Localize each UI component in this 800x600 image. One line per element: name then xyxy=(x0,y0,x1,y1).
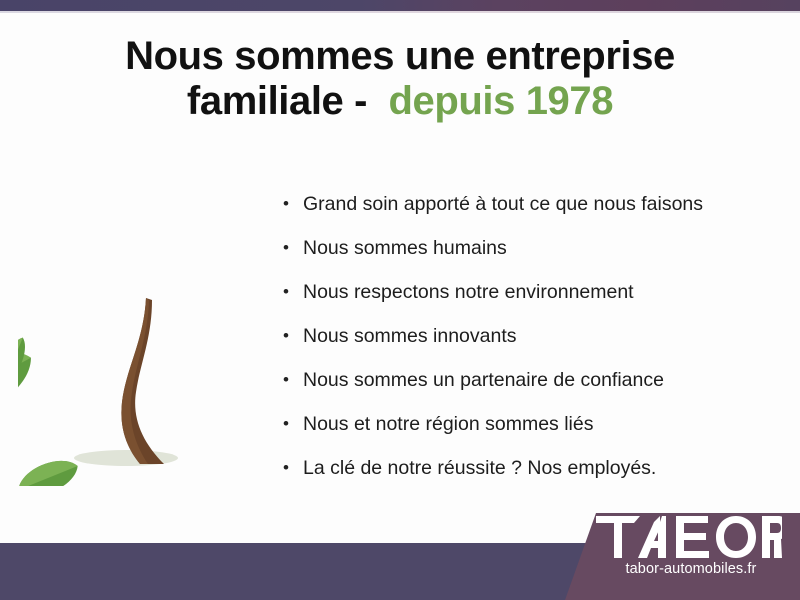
title-line-2-accent: depuis 1978 xyxy=(388,79,613,123)
title-line-1: Nous sommes une entreprise xyxy=(0,34,800,79)
list-item-label: Nous respectons notre environnement xyxy=(303,278,634,306)
list-item-label: Grand soin apporté à tout ce que nous fa… xyxy=(303,190,703,218)
list-item: • Nous et notre région sommes liés xyxy=(283,410,783,454)
top-accent-bar xyxy=(0,0,800,11)
title-line-2-plain: familiale - xyxy=(187,79,389,123)
page-title: Nous sommes une entreprise familiale - d… xyxy=(0,34,800,124)
list-item: • Grand soin apporté à tout ce que nous … xyxy=(283,190,783,234)
title-line-2: familiale - depuis 1978 xyxy=(0,79,800,124)
bullet-marker-icon: • xyxy=(283,454,303,482)
list-item-label: Nous sommes humains xyxy=(303,234,507,262)
list-item: • Nous respectons notre environnement xyxy=(283,278,783,322)
list-item-label: La clé de notre réussite ? Nos employés. xyxy=(303,454,656,482)
top-accent-hairline xyxy=(0,11,800,13)
slide-canvas: Nous sommes une entreprise familiale - d… xyxy=(0,0,800,600)
bullet-marker-icon: • xyxy=(283,234,303,262)
logo-tagline: tabor-automobiles.fr xyxy=(596,561,786,577)
tree-illustration xyxy=(18,186,278,486)
bullet-marker-icon: • xyxy=(283,366,303,394)
bullet-marker-icon: • xyxy=(283,410,303,438)
list-item-label: Nous sommes un partenaire de confiance xyxy=(303,366,664,394)
tabor-logo xyxy=(596,516,782,558)
list-item-label: Nous sommes innovants xyxy=(303,322,517,350)
list-item: • Nous sommes innovants xyxy=(283,322,783,366)
list-item: • La clé de notre réussite ? Nos employé… xyxy=(283,454,783,498)
list-item: • Nous sommes humains xyxy=(283,234,783,278)
list-item-label: Nous et notre région sommes liés xyxy=(303,410,593,438)
bullet-marker-icon: • xyxy=(283,278,303,306)
bullet-marker-icon: • xyxy=(283,190,303,218)
bullet-marker-icon: • xyxy=(283,322,303,350)
list-item: • Nous sommes un partenaire de confiance xyxy=(283,366,783,410)
tree-leaf xyxy=(18,453,83,486)
benefits-list: • Grand soin apporté à tout ce que nous … xyxy=(283,190,783,498)
